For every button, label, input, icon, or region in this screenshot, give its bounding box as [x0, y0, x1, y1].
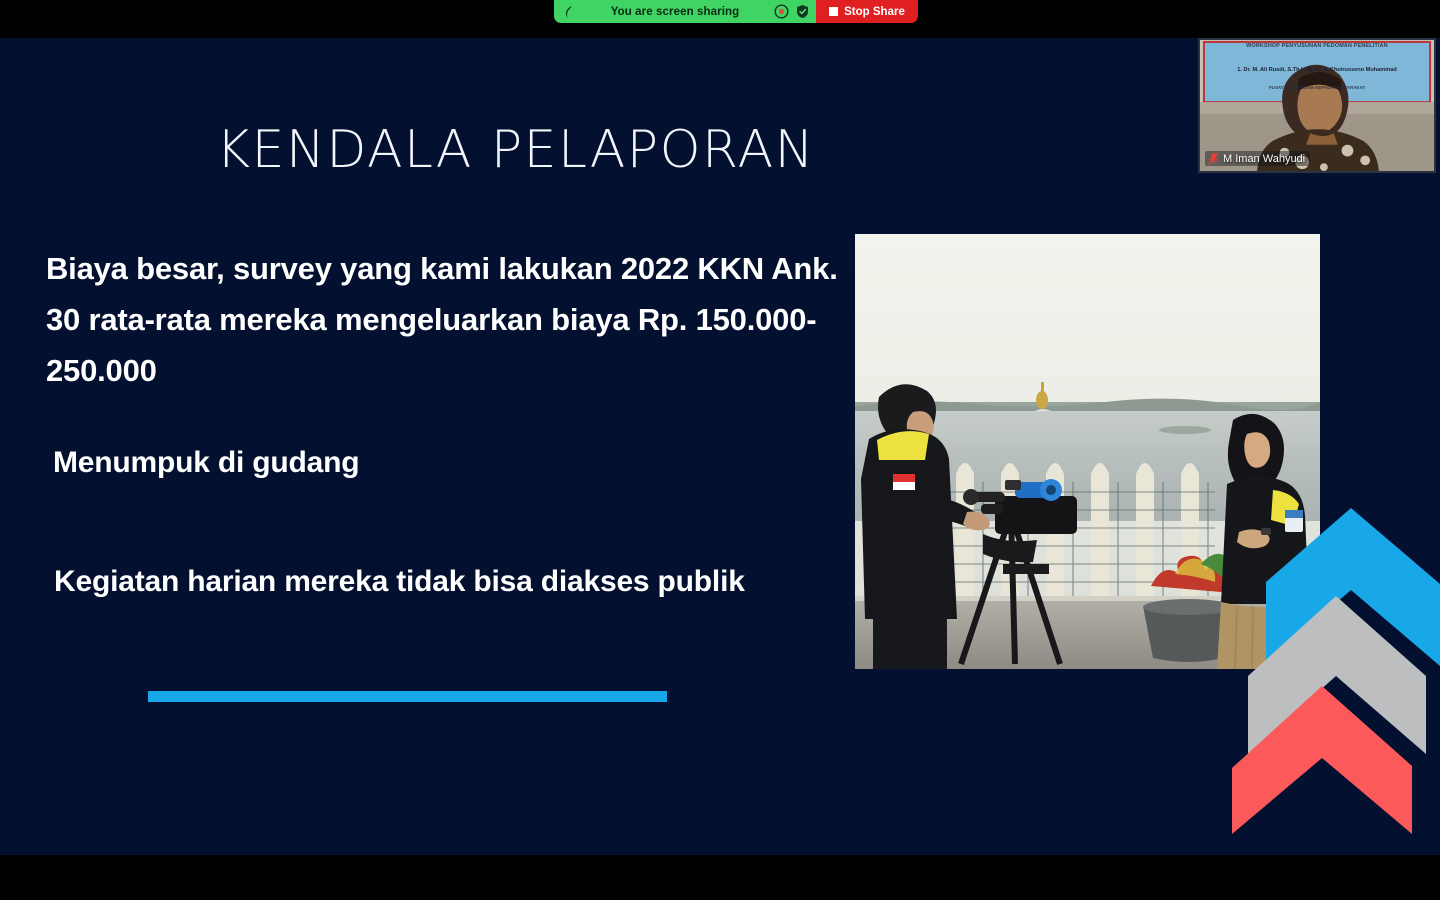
slide-photo	[855, 234, 1320, 669]
letterbox-bottom	[0, 855, 1440, 900]
mic-muted-icon	[1208, 152, 1219, 165]
page-title: KENDALA PELAPORAN	[216, 120, 815, 180]
screen-share-banner: You are screen sharing Stop Share	[554, 0, 918, 23]
recording-indicator-icon[interactable]	[774, 4, 789, 19]
chevron-red	[1232, 686, 1412, 834]
slide-paragraph-1: Biaya besar, survey yang kami lakukan 20…	[46, 243, 846, 396]
webcam-banner-line-5: PUSAT PENGABDIAN KEPADA MASYARAKAT	[1210, 85, 1424, 91]
share-status-area: You are screen sharing	[554, 0, 816, 23]
stop-share-label: Stop Share	[844, 6, 905, 18]
share-status-text: You are screen sharing	[582, 6, 768, 18]
stop-share-button[interactable]: Stop Share	[816, 0, 918, 23]
slide-paragraph-2: Menumpuk di gudang	[53, 441, 753, 485]
slide-paragraph-3: Kegiatan harian mereka tidak bisa diakse…	[54, 556, 814, 607]
webcam-banner-line-1: WORKSHOP PENYUSUNAN PEDOMAN PENELITIAN	[1204, 43, 1430, 50]
participant-name-tag: M Iman Wahyudi	[1205, 151, 1310, 166]
share-pointer-icon	[562, 5, 576, 19]
webcam-banner-line-4: 1. Dr. M. Ali Rusdi, S.Th.I., M.H.I. 2. …	[1203, 66, 1431, 74]
security-shield-icon[interactable]	[795, 4, 810, 19]
stop-square-icon	[829, 7, 838, 16]
accent-underline-bar	[148, 691, 667, 702]
zoom-screen-share-view: KENDALA PELAPORAN Biaya besar, survey ya…	[0, 0, 1440, 900]
participant-video-thumbnail[interactable]: WORKSHOP PENYUSUNAN PEDOMAN PENELITIAN 1…	[1198, 38, 1436, 173]
participant-name: M Iman Wahyudi	[1223, 153, 1305, 165]
